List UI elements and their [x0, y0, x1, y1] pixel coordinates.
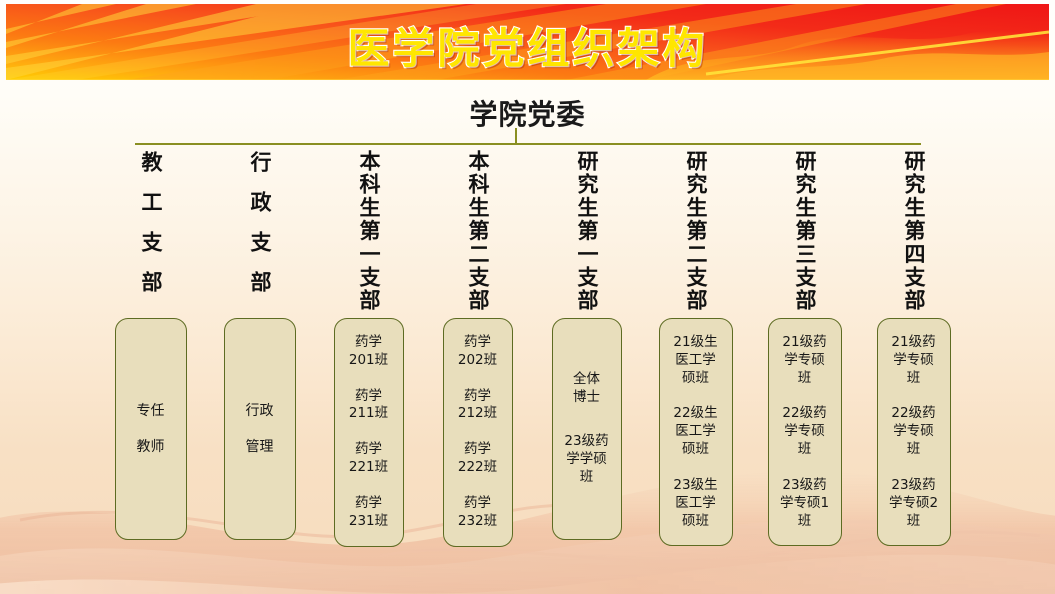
branch-column-7[interactable]: 研究生第三支部 21级药 学专硕 班 22级药 学专硕 班 23级药 学专硕1 …	[750, 150, 859, 560]
branch-column-2[interactable]: 行政支部 行政 管理	[205, 150, 314, 560]
title-banner: 医学院党组织架构	[6, 4, 1049, 80]
root-node-label: 学院党委	[0, 93, 1055, 133]
branch-members-box[interactable]: 专任 教师	[115, 318, 187, 540]
member-entry: 药学 232班	[458, 495, 497, 531]
branch-members-box[interactable]: 行政 管理	[224, 318, 296, 540]
member-entry: 22级生 医工学 硕班	[673, 405, 717, 458]
branch-label: 研究生第三支部	[794, 150, 815, 312]
member-entry: 药学 212班	[458, 388, 497, 424]
branch-label: 本科生第一支部	[358, 150, 379, 312]
member-entry: 23级药 学专硕2 班	[889, 477, 938, 530]
connector-bar	[135, 143, 921, 145]
branch-label: 研究生第一支部	[576, 150, 597, 312]
member-entry: 教师	[137, 438, 165, 456]
member-entry: 药学 211班	[349, 388, 388, 424]
connector-stem	[515, 128, 517, 144]
member-entry: 22级药 学专硕 班	[782, 405, 826, 458]
branch-column-8[interactable]: 研究生第四支部 21级药 学专硕 班 22级药 学专硕 班 23级药 学专硕2 …	[859, 150, 968, 560]
member-entry: 药学 231班	[349, 495, 388, 531]
branch-members-box[interactable]: 21级药 学专硕 班 22级药 学专硕 班 23级药 学专硕1 班	[768, 318, 842, 546]
member-entry: 22级药 学专硕 班	[891, 405, 935, 458]
member-entry: 药学 201班	[349, 334, 388, 370]
member-entry: 行政	[246, 402, 274, 420]
branch-label: 研究生第二支部	[685, 150, 706, 312]
member-entry: 21级药 学专硕 班	[891, 334, 935, 387]
branch-column-4[interactable]: 本科生第二支部 药学 202班 药学 212班 药学 222班 药学 232班	[423, 150, 532, 560]
member-entry: 药学 222班	[458, 441, 497, 477]
branch-column-3[interactable]: 本科生第一支部 药学 201班 药学 211班 药学 221班 药学 231班	[314, 150, 423, 560]
member-entry: 药学 221班	[349, 441, 388, 477]
branch-column-1[interactable]: 教工支部 专任 教师	[96, 150, 205, 560]
branch-column-5[interactable]: 研究生第一支部 全体 博士 23级药 学学硕 班	[532, 150, 641, 560]
branch-column-6[interactable]: 研究生第二支部 21级生 医工学 硕班 22级生 医工学 硕班 23级生 医工学…	[641, 150, 750, 560]
member-entry: 23级生 医工学 硕班	[673, 477, 717, 530]
branch-members-box[interactable]: 21级生 医工学 硕班 22级生 医工学 硕班 23级生 医工学 硕班	[659, 318, 733, 546]
branch-members-box[interactable]: 21级药 学专硕 班 22级药 学专硕 班 23级药 学专硕2 班	[877, 318, 951, 546]
branch-label: 研究生第四支部	[903, 150, 924, 312]
member-entry: 专任	[137, 402, 165, 420]
member-entry: 全体 博士	[573, 371, 600, 407]
branch-label: 教工支部	[140, 150, 161, 312]
member-entry: 管理	[246, 438, 274, 456]
branch-label: 行政支部	[249, 150, 270, 312]
member-entry: 药学 202班	[458, 334, 497, 370]
member-entry: 23级药 学学硕 班	[564, 433, 608, 486]
member-entry: 23级药 学专硕1 班	[780, 477, 829, 530]
organization-chart-slide: 医学院党组织架构 学院党委 教工支部 专任 教师 行政支部 行政 管理 本科生第…	[0, 0, 1055, 594]
branch-members-box[interactable]: 药学 202班 药学 212班 药学 222班 药学 232班	[443, 318, 513, 547]
branch-label: 本科生第二支部	[467, 150, 488, 312]
page-title: 医学院党组织架构	[6, 15, 1049, 76]
branch-columns: 教工支部 专任 教师 行政支部 行政 管理 本科生第一支部 药学 201班 药学…	[96, 150, 968, 560]
branch-members-box[interactable]: 全体 博士 23级药 学学硕 班	[552, 318, 622, 540]
member-entry: 21级生 医工学 硕班	[673, 334, 717, 387]
branch-members-box[interactable]: 药学 201班 药学 211班 药学 221班 药学 231班	[334, 318, 404, 547]
member-entry: 21级药 学专硕 班	[782, 334, 826, 387]
